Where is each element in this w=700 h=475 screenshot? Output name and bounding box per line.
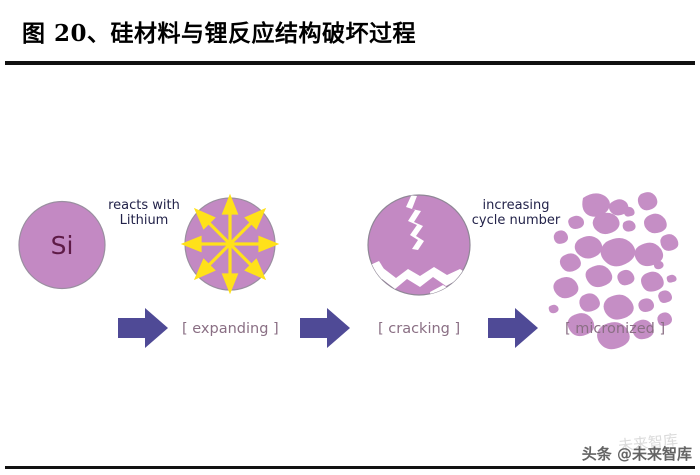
caption-micronized: [ micronized ]	[565, 321, 665, 337]
caption-expanding: [ expanding ]	[182, 321, 279, 337]
process-diagram: Si	[0, 70, 700, 390]
silicon-label: Si	[51, 231, 74, 260]
figure-root: 图 20、硅材料与锂反应结构破坏过程 Si	[0, 0, 700, 475]
transition-label-reacts-line1: reacts with	[106, 198, 182, 213]
transition-label-cycles-line1: increasing	[471, 198, 561, 213]
transition-label-reacts-line2: Lithium	[106, 213, 182, 228]
transition-arrow-cycles	[488, 308, 538, 348]
stage-silicon-circle: Si	[19, 202, 105, 289]
transition-arrow-reacts	[118, 308, 168, 348]
watermark-bottom-right: 头条 @未来智库	[582, 443, 692, 464]
transition-label-cycles-line2: cycle number	[471, 213, 561, 228]
footer-divider	[5, 466, 695, 469]
stage-cracking-circle	[368, 195, 472, 301]
caption-cracking: [ cracking ]	[378, 321, 460, 337]
transition-arrow-plain	[300, 308, 350, 348]
page-title: 图 20、硅材料与锂反应结构破坏过程	[22, 14, 416, 48]
radial-arrows	[185, 198, 275, 290]
stage-expanding-circle	[185, 198, 275, 290]
transition-label-reacts: reacts with Lithium	[106, 198, 182, 228]
header-divider	[5, 61, 695, 65]
transition-label-cycles: increasing cycle number	[471, 198, 561, 228]
